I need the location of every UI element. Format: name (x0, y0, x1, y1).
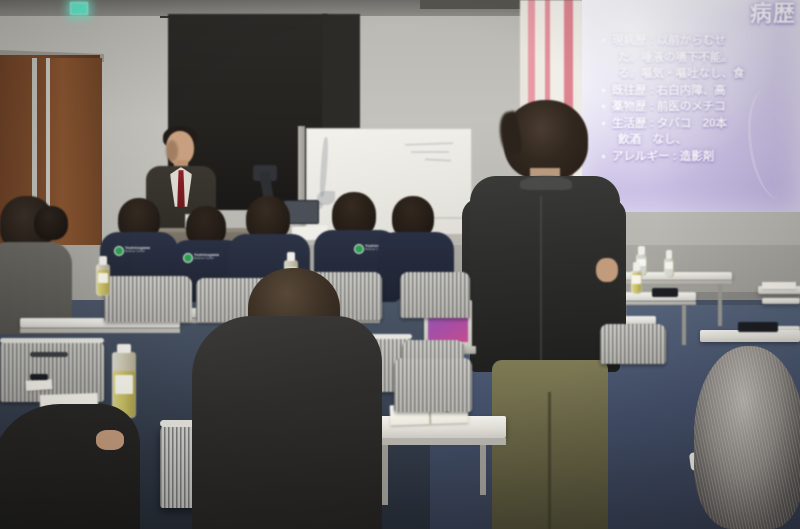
foreground-attendee-left-body (0, 404, 140, 529)
bottle-label (115, 375, 133, 394)
slide-bullet-item: 薬物歴 : 前医のメチコ (602, 100, 800, 116)
staff-logo-mark-icon (183, 253, 193, 263)
slide-bullet-text: 薬物歴 : 前医のメチコ (612, 101, 726, 113)
chair-mid-front-right[interactable] (394, 358, 472, 412)
table-edge (20, 328, 180, 333)
tea-bottle-mid (96, 256, 110, 296)
projection-screen: 病歴 現病歴 : 以前からむせ た。唾液の嚥下不能。 る。嘔気・嘔吐なし、食 既… (582, 0, 800, 212)
slide-bullet-text: 既往歴 : 右白内障、高 (612, 85, 726, 97)
slide-bullet-continuation: た。唾液の嚥下不能。 (602, 51, 800, 67)
table-leg (682, 305, 686, 345)
slide-bullet-item: 生活歴 : タバコ 20本 (602, 117, 800, 133)
slide-bullet-text: 飲酒 なし、 (618, 134, 687, 146)
bullet-dot-icon (602, 155, 605, 158)
device-front-right (738, 322, 778, 332)
chair-handle-slot (30, 352, 68, 357)
chair-back-left[interactable] (104, 276, 192, 322)
wall-recess-dark-secondary (322, 14, 360, 134)
chair-rim (0, 338, 104, 343)
bullet-dot-icon (602, 39, 605, 42)
standing-person-trouser-seam (548, 392, 551, 529)
lecture-hall-photo: 病歴 現病歴 : 以前からむせ た。唾液の嚥下不能。 る。嘔気・嘔吐なし、食 既… (0, 0, 800, 529)
table-far-right-2 (762, 298, 800, 304)
device-case-right (652, 288, 678, 297)
table-leg (718, 284, 722, 326)
bullet-dot-icon (602, 89, 605, 92)
bullet-dot-icon (602, 105, 605, 108)
slide-bullet-text: アレルギー : 造影剤 (612, 151, 714, 163)
slide-bullet-text: 現病歴 : 以前からむせ (612, 35, 726, 47)
bullet-dot-icon (602, 122, 605, 125)
attendee-head-far-left (34, 206, 68, 240)
bottle-right-3 (631, 262, 642, 294)
whiteboard (306, 128, 472, 238)
slide-bullet-item: 既往歴 : 右白内障、高 (602, 84, 800, 100)
foreground-elder-head (694, 346, 800, 529)
exit-sign-light (70, 2, 88, 15)
staff-logo-mark-icon (114, 246, 124, 256)
standing-person-hand (596, 258, 618, 282)
table-leg-front-2 (480, 445, 486, 495)
phone-on-table (30, 374, 48, 380)
slide-bullet-text: 生活歴 : タバコ 20本 (612, 118, 727, 130)
chair-back-right[interactable] (400, 272, 470, 318)
standing-person-collar (520, 176, 572, 190)
slide-bullet-item: アレルギー : 造影剤 (602, 150, 800, 166)
speaker-face-shadow (166, 140, 178, 162)
staff-logo-mark-icon (354, 244, 364, 254)
slide-bullet-text: た。唾液の嚥下不能。 (618, 52, 733, 64)
slide-bullet-item: 現病歴 : 以前からむせ (602, 34, 800, 50)
slide-bullet-list: 現病歴 : 以前からむせ た。唾液の嚥下不能。 る。嘔気・嘔吐なし、食 既往歴 … (602, 34, 800, 166)
slide-bullet-continuation: る。嘔気・嘔吐なし、食 (602, 67, 800, 83)
staff-logo-text: YoshinogawaMedical Center (194, 253, 219, 262)
slide-title: 病歴 (750, 0, 796, 28)
table-leg-front (382, 445, 388, 505)
chair-right-back[interactable] (600, 324, 666, 364)
bottle-right-2 (664, 250, 674, 278)
table-edge (612, 280, 732, 284)
slide-bullet-text: る。嘔気・嘔吐なし、食 (618, 68, 745, 80)
papers-right (762, 282, 796, 289)
slide-bullet-continuation: 飲酒 なし、 (602, 133, 800, 149)
standing-person-jacket-seam (540, 196, 542, 366)
foreground-attendee-left-hand (96, 430, 124, 450)
papers-left-small (26, 379, 53, 391)
foreground-attendee-suit (192, 316, 382, 529)
staff-logo-text: YoshinogawaMedical Center (125, 246, 150, 255)
bottle-cap (117, 344, 130, 353)
